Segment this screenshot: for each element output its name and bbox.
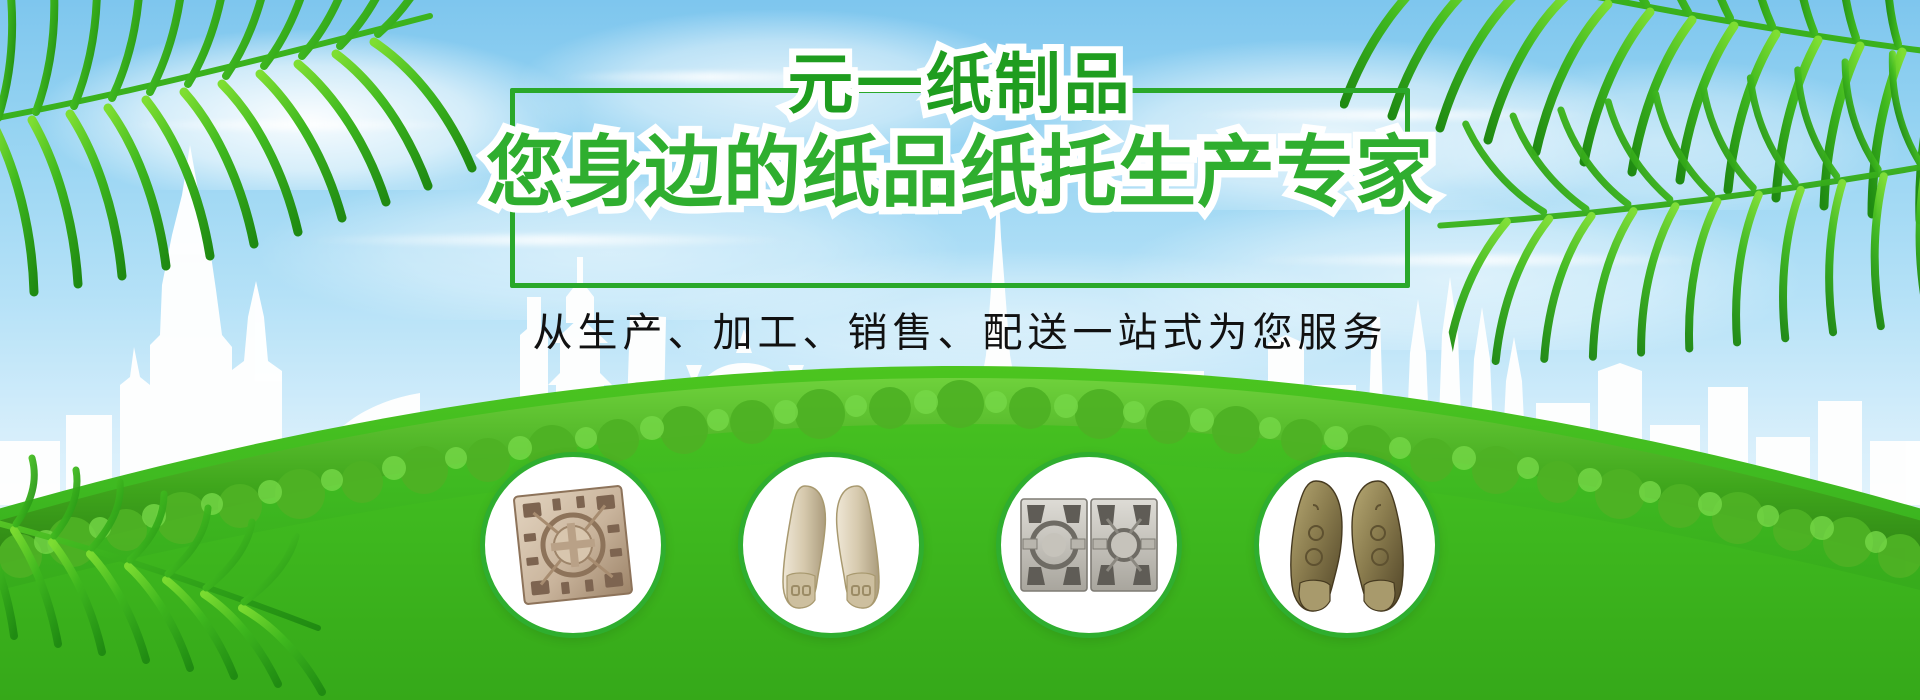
product-circle[interactable]: 纸浆鞋撑	[738, 452, 924, 638]
product-circle[interactable]: 方形纸浆模塑托盘	[480, 452, 666, 638]
cloud-streak-icon	[120, 120, 480, 130]
product-circle[interactable]: 深色纸浆鞋托	[1254, 452, 1440, 638]
subtitle: 从生产、加工、销售、配送一站式为您服务	[533, 300, 1388, 358]
pulp-shoe-tree-icon	[765, 476, 897, 614]
gray-pulp-insert-icon	[1019, 493, 1159, 597]
cloud-icon	[1420, 60, 1900, 210]
product-circle[interactable]: 灰色纸托内衬	[996, 452, 1182, 638]
brand-name: 元一纸制品	[774, 52, 1147, 118]
dark-pulp-shoe-form-icon	[1280, 475, 1414, 615]
square-pulp-tray-icon	[507, 479, 639, 611]
headline-block: 元一纸制品 您身边的纸品纸托生产专家	[510, 88, 1410, 288]
palm-leaf-icon	[0, 430, 330, 700]
page-title: 您身边的纸品纸托生产专家	[486, 134, 1434, 212]
product-gallery: 方形纸浆模塑托盘	[480, 452, 1440, 638]
palm-leaf-icon	[0, 0, 490, 360]
promo-banner: 元一纸制品 您身边的纸品纸托生产专家 从生产、加工、销售、配送一站式为您服务 方…	[0, 0, 1920, 700]
